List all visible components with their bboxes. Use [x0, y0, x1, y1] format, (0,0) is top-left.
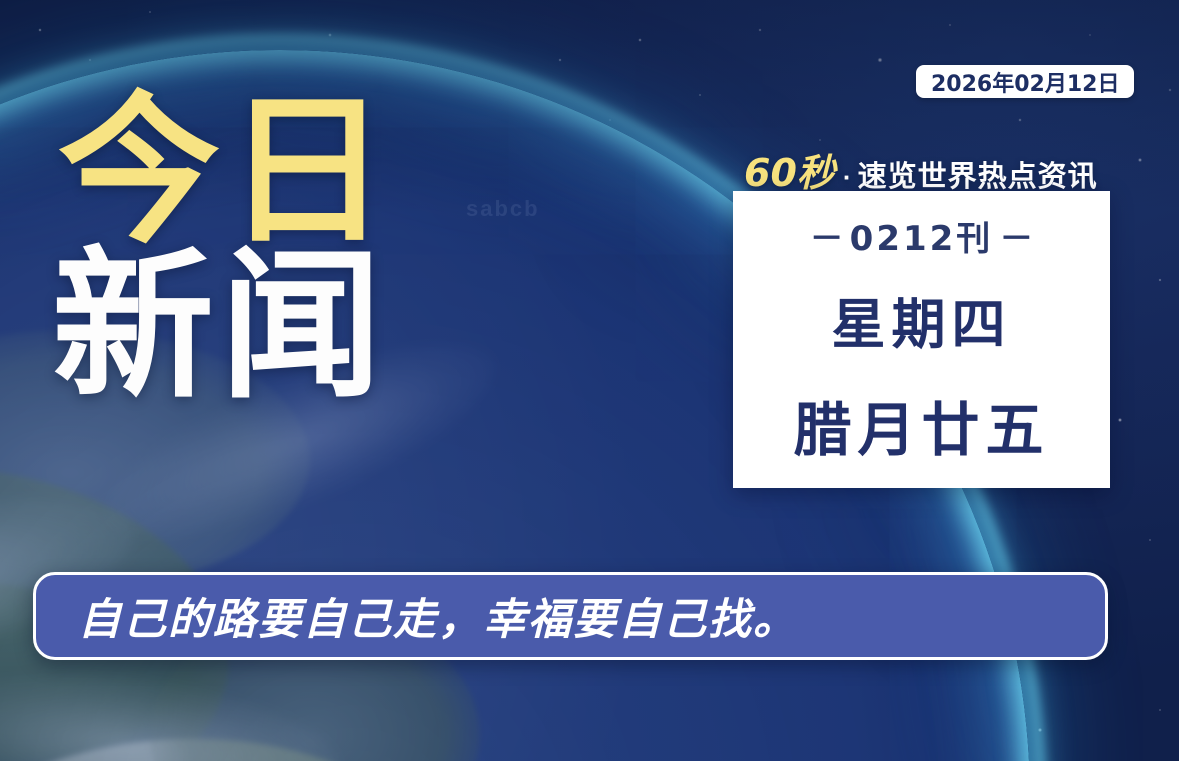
weekday-label: 星期四 [832, 280, 1012, 359]
date-badge: 2026年02月12日 [916, 65, 1134, 98]
quote-text: 自己的路要自己走，幸福要自己找。 [78, 585, 798, 647]
tagline-seconds: 60秒 [744, 142, 835, 197]
title-line-jinri: 今日 [58, 98, 394, 247]
issue-number: 0212刊 [850, 219, 994, 259]
news-poster: sabcb 今日 新闻 2026年02月12日 60秒 · 速览世界热点资讯 －… [0, 0, 1179, 761]
tagline-separator: · [843, 162, 852, 193]
issue-dash-left: － [804, 219, 850, 259]
tagline: 60秒 · 速览世界热点资讯 [744, 142, 1098, 197]
background-watermark: sabcb [466, 196, 540, 222]
issue-number-row: －0212刊－ [804, 211, 1040, 260]
quote-banner: 自己的路要自己走，幸福要自己找。 [33, 572, 1108, 660]
issue-info-card: －0212刊－ 星期四 腊月廿五 [733, 191, 1110, 488]
title-line-xinwen: 新闻 [52, 253, 394, 402]
issue-dash-right: － [993, 219, 1039, 259]
tagline-description: 速览世界热点资讯 [858, 153, 1098, 195]
page-title: 今日 新闻 [58, 98, 394, 402]
lunar-date-label: 腊月廿五 [793, 383, 1049, 467]
